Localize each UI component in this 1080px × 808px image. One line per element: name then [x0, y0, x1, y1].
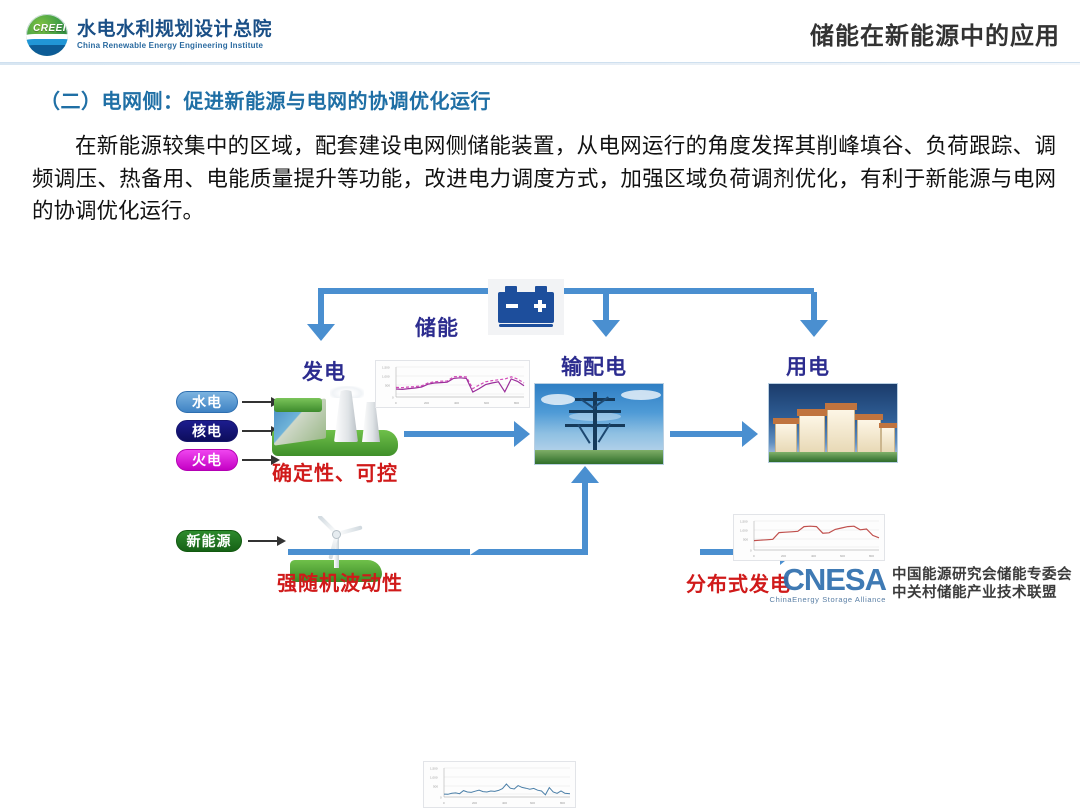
- hydro-dam-top-shape: [274, 398, 322, 412]
- logo-mark-text: CREEI: [33, 23, 66, 34]
- chart-new-energy-output: 1,500 1,000 500 0 0 200 400 600 800: [423, 761, 576, 808]
- arrow-stem-transmission: [603, 292, 609, 320]
- storage-battery-block: [488, 279, 564, 335]
- svg-text:600: 600: [484, 401, 489, 405]
- svg-text:400: 400: [454, 401, 459, 405]
- node-label-consumption: 用电: [786, 351, 830, 381]
- chart-conventional-generation: 1,500 1,000 500 0 0 200 400 600 800: [375, 360, 530, 408]
- svg-text:0: 0: [395, 401, 397, 405]
- buildings-lawn: [769, 452, 898, 462]
- source-badge-new-energy-label: 新能源: [187, 531, 232, 551]
- building-5: [881, 427, 895, 453]
- organization-logo: CREEI 水电水利规划设计总院 China Renewable Energy …: [26, 14, 272, 56]
- svg-text:1,500: 1,500: [382, 366, 390, 370]
- tower-crossarm-2: [569, 410, 621, 413]
- svg-text:0: 0: [750, 549, 752, 553]
- logo-org-name-en: China Renewable Energy Engineering Insti…: [77, 41, 272, 50]
- svg-text:1,500: 1,500: [430, 767, 438, 771]
- svg-text:1,000: 1,000: [430, 776, 438, 780]
- svg-text:500: 500: [385, 384, 390, 388]
- building-roof-2: [797, 409, 827, 416]
- battery-base: [499, 324, 553, 327]
- building-roof-4: [855, 414, 883, 420]
- svg-text:0: 0: [753, 554, 755, 558]
- plus-sign-icon-v: [538, 300, 542, 312]
- source-badge-nuclear: 核电: [176, 420, 238, 442]
- node-label-generation: 发电: [302, 356, 346, 386]
- arrow-stem-distributed-vertical: [582, 483, 588, 553]
- arrow-stem-trans-to-use: [670, 431, 742, 437]
- arrow-head-into-transmission: [571, 466, 599, 483]
- building-roof-1: [773, 418, 799, 424]
- building-3: [827, 409, 855, 453]
- flow-line-left-trunk: [318, 288, 498, 294]
- residential-buildings-photo: [768, 383, 898, 463]
- svg-text:800: 800: [869, 554, 874, 558]
- arrow-stem-gen-to-trans: [404, 431, 514, 437]
- badge-arrow-new-energy-icon: [248, 540, 284, 542]
- building-roof-3: [825, 403, 857, 410]
- node-label-transmission: 输配电: [561, 351, 627, 381]
- flow-line-right-trunk: [556, 288, 814, 294]
- svg-text:200: 200: [781, 554, 786, 558]
- logo-text-block: 水电水利规划设计总院 China Renewable Energy Engine…: [77, 20, 272, 51]
- svg-text:0: 0: [443, 801, 445, 805]
- svg-text:0: 0: [392, 396, 394, 400]
- source-badge-thermal-label: 火电: [192, 450, 222, 470]
- cnesa-word: CNESA: [770, 565, 886, 594]
- arrow-head-transmission: [592, 320, 620, 337]
- arrow-stem-distributed-horizontal: [288, 549, 588, 555]
- tower-ground: [535, 450, 664, 464]
- turbine-hub: [332, 530, 341, 539]
- svg-text:1,500: 1,500: [740, 520, 748, 524]
- svg-text:500: 500: [433, 785, 438, 789]
- svg-text:1,000: 1,000: [382, 375, 390, 379]
- cnesa-chinese-names: 中国能源研究会储能专委会 中关村储能产业技术联盟: [892, 566, 1072, 602]
- svg-text:200: 200: [424, 401, 429, 405]
- logo-wave-darkblue: [26, 45, 68, 56]
- battery-body: [498, 292, 554, 323]
- building-1: [775, 423, 797, 453]
- svg-text:600: 600: [840, 554, 845, 558]
- storage-label: 储能: [415, 312, 459, 342]
- arrow-head-gen-to-trans: [514, 421, 530, 447]
- svg-text:400: 400: [811, 554, 816, 558]
- svg-text:500: 500: [743, 538, 748, 542]
- arrow-stem-consumption: [811, 292, 817, 320]
- svg-text:800: 800: [560, 801, 565, 805]
- building-4: [857, 419, 881, 453]
- cnesa-name-line-2: 中关村储能产业技术联盟: [892, 584, 1072, 602]
- arrow-head-generation: [307, 324, 335, 341]
- chart-distributed-generation: 1,500 1,000 500 0 0 200 400 600 800: [733, 514, 885, 561]
- cooling-tower-small: [362, 402, 380, 442]
- tower-crossarm-3: [565, 424, 625, 427]
- annotation-controllable: 确定性、可控: [272, 457, 398, 486]
- section-heading: （二）电网侧：促进新能源与电网的协调优化运行: [40, 85, 491, 114]
- building-roof-5: [879, 423, 897, 428]
- source-badge-nuclear-label: 核电: [192, 421, 222, 441]
- svg-text:800: 800: [514, 401, 519, 405]
- page-title: 储能在新能源中的应用: [810, 16, 1060, 51]
- svg-text:0: 0: [440, 796, 442, 800]
- cnesa-name-line-1: 中国能源研究会储能专委会: [892, 566, 1072, 584]
- building-2: [799, 415, 825, 453]
- chart-new-energy-output-svg: 1,500 1,000 500 0 0 200 400 600 800: [424, 762, 575, 807]
- svg-text:200: 200: [472, 801, 477, 805]
- creei-globe-wave-logo-icon: CREEI: [26, 14, 68, 56]
- svg-text:600: 600: [530, 801, 535, 805]
- cloud-2: [621, 390, 661, 400]
- body-paragraph: 在新能源较集中的区域，配套建设电网侧储能装置，从电网运行的角度发挥其削峰填谷、负…: [32, 130, 1056, 228]
- source-badge-thermal: 火电: [176, 449, 238, 471]
- arrow-head-trans-to-use: [742, 421, 758, 447]
- cnesa-logo-block: CNESA ChinaEnergy Storage Alliance 中国能源研…: [770, 565, 1072, 604]
- svg-text:1,000: 1,000: [740, 529, 748, 533]
- minus-sign-icon: [506, 304, 518, 308]
- battery-icon: [498, 286, 554, 328]
- source-badge-new-energy: 新能源: [176, 530, 242, 552]
- chart-conventional-generation-svg: 1,500 1,000 500 0 0 200 400 600 800: [376, 361, 529, 407]
- header-divider: [0, 62, 1080, 65]
- svg-text:400: 400: [502, 801, 507, 805]
- logo-org-name-cn: 水电水利规划设计总院: [77, 20, 272, 40]
- arrow-head-consumption: [800, 320, 828, 337]
- energy-flow-diagram: 储能 发电 输配电 用电 水电 核电 火电 新能源: [0, 268, 1080, 608]
- arrow-stem-generation: [318, 292, 324, 324]
- slide-header: CREEI 水电水利规划设计总院 China Renewable Energy …: [0, 0, 1080, 62]
- cnesa-wordmark: CNESA ChinaEnergy Storage Alliance: [770, 565, 886, 604]
- chart-distributed-generation-svg: 1,500 1,000 500 0 0 200 400 600 800: [734, 515, 884, 560]
- source-badge-hydro: 水电: [176, 391, 238, 413]
- annotation-volatile: 强随机波动性: [277, 567, 403, 596]
- arrow-marker-midpath: [470, 539, 482, 555]
- cloud-1: [541, 394, 575, 405]
- source-badge-hydro-label: 水电: [192, 392, 222, 412]
- transmission-tower-photo: [534, 383, 664, 465]
